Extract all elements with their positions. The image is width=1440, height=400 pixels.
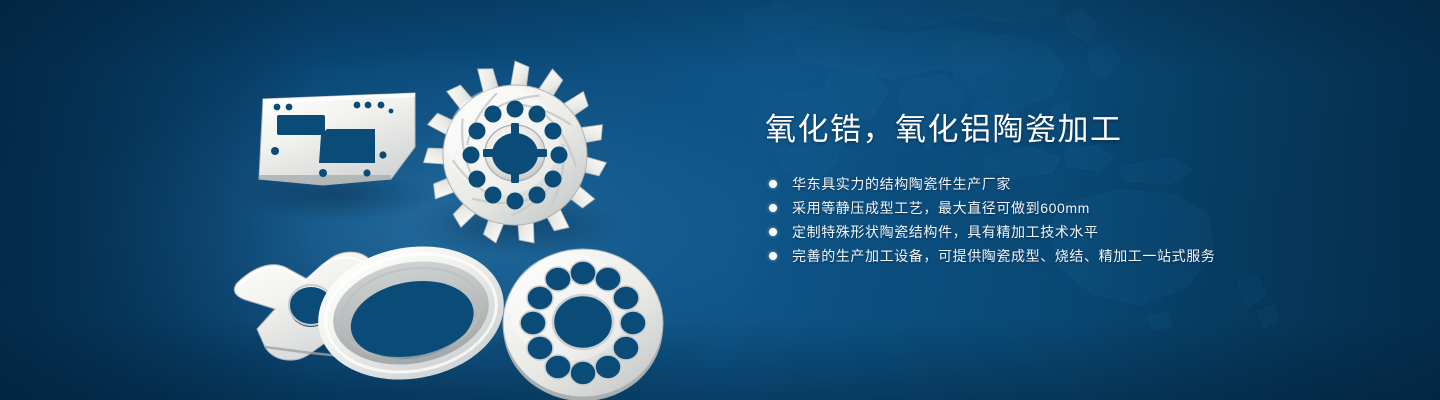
list-item-label: 完善的生产加工设备，可提供陶瓷成型、烧结、精加工一站式服务 [792,248,1215,264]
list-item: 定制特殊形状陶瓷结构件，具有精加工技术水平 [769,220,1385,244]
list-item: 华东具实力的结构陶瓷件生产厂家 [769,172,1385,196]
list-item: 采用等静压成型工艺，最大直径可做到600mm [769,196,1385,220]
list-item-label: 定制特殊形状陶瓷结构件，具有精加工技术水平 [792,224,1099,240]
bullet-dot-icon [769,180,777,188]
list-item-label: 华东具实力的结构陶瓷件生产厂家 [792,176,1011,192]
ceramic-plate-part [259,93,415,185]
ceramic-perforated-disc-part [503,249,663,400]
list-item-label: 采用等静压成型工艺，最大直径可做到600mm [792,200,1090,216]
banner-feature-list: 华东具实力的结构陶瓷件生产厂家 采用等静压成型工艺，最大直径可做到600mm 定… [769,172,1385,268]
hero-banner: 氧化锆，氧化铝陶瓷加工 华东具实力的结构陶瓷件生产厂家 采用等静压成型工艺，最大… [0,0,1440,400]
bullet-dot-icon [769,228,777,236]
bullet-dot-icon [769,252,777,260]
list-item: 完善的生产加工设备，可提供陶瓷成型、烧结、精加工一站式服务 [769,244,1385,268]
banner-headline: 氧化锆，氧化铝陶瓷加工 [765,108,1385,152]
bullet-dot-icon [769,204,777,212]
product-photo-collage [215,35,735,375]
banner-copy: 氧化锆，氧化铝陶瓷加工 华东具实力的结构陶瓷件生产厂家 采用等静压成型工艺，最大… [765,108,1385,268]
